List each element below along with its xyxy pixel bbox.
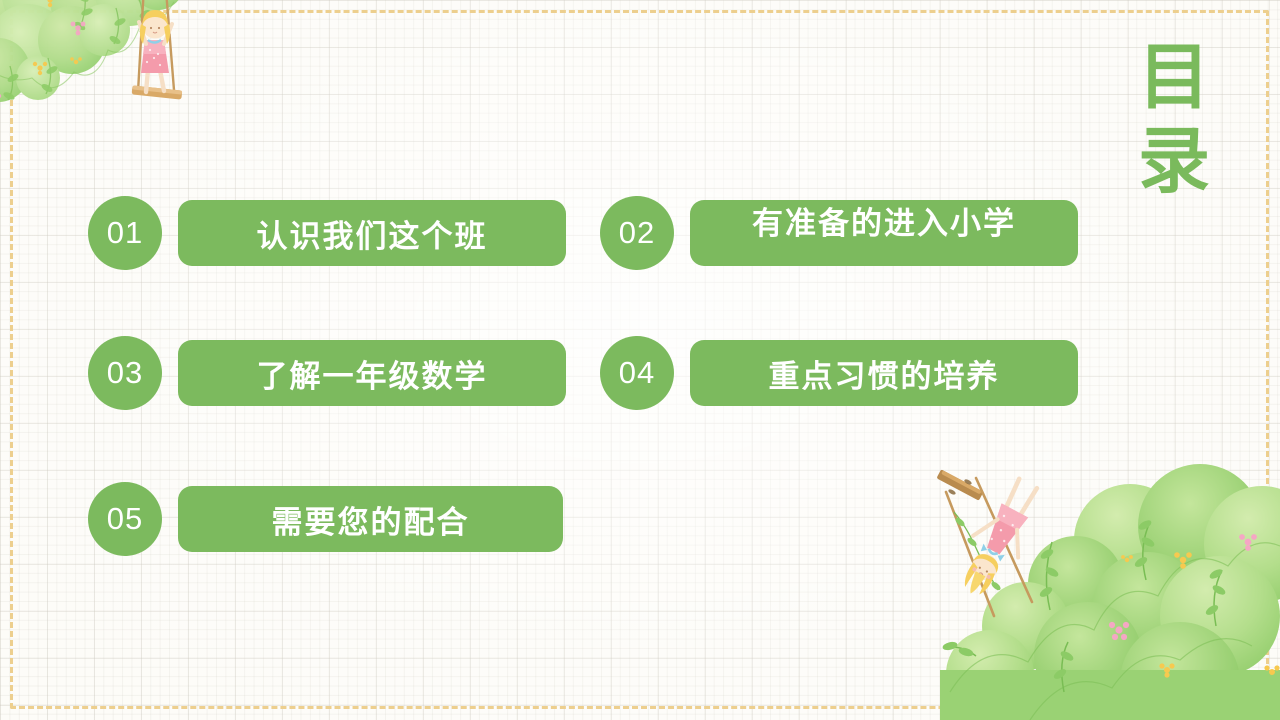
toc-item-label-01: 认识我们这个班 <box>257 211 488 256</box>
toc-item-number-02: 02 <box>600 196 674 270</box>
toc-item-label-pill-05[interactable]: 需要您的配合 <box>178 486 563 552</box>
toc-item-label-pill-01[interactable]: 认识我们这个班 <box>178 200 566 266</box>
toc-item-number-04: 04 <box>600 336 674 410</box>
toc-item-03[interactable]: 03 了解一年级数学 <box>88 336 566 410</box>
slide-canvas: 目 录 01 认识我们这个班 02 有准备的进入小学 03 了解一年级数学 04… <box>0 0 1280 720</box>
toc-item-01[interactable]: 01 认识我们这个班 <box>88 196 566 270</box>
table-of-contents-list: 01 认识我们这个班 02 有准备的进入小学 03 了解一年级数学 04 重点习… <box>0 0 1280 720</box>
toc-item-label-pill-02[interactable]: 有准备的进入小学 <box>690 200 1078 266</box>
toc-item-number-03: 03 <box>88 336 162 410</box>
toc-item-label-pill-04[interactable]: 重点习惯的培养 <box>690 340 1078 406</box>
toc-item-02[interactable]: 02 有准备的进入小学 <box>600 196 1078 270</box>
toc-item-number-05: 05 <box>88 482 162 556</box>
toc-item-04[interactable]: 04 重点习惯的培养 <box>600 336 1078 410</box>
toc-item-label-04: 重点习惯的培养 <box>769 351 1000 396</box>
toc-item-label-02: 有准备的进入小学 <box>700 206 1068 243</box>
toc-item-label-pill-03[interactable]: 了解一年级数学 <box>178 340 566 406</box>
toc-item-label-05: 需要您的配合 <box>272 497 470 542</box>
toc-item-05[interactable]: 05 需要您的配合 <box>88 482 563 556</box>
toc-item-label-03: 了解一年级数学 <box>257 351 488 396</box>
toc-item-number-01: 01 <box>88 196 162 270</box>
